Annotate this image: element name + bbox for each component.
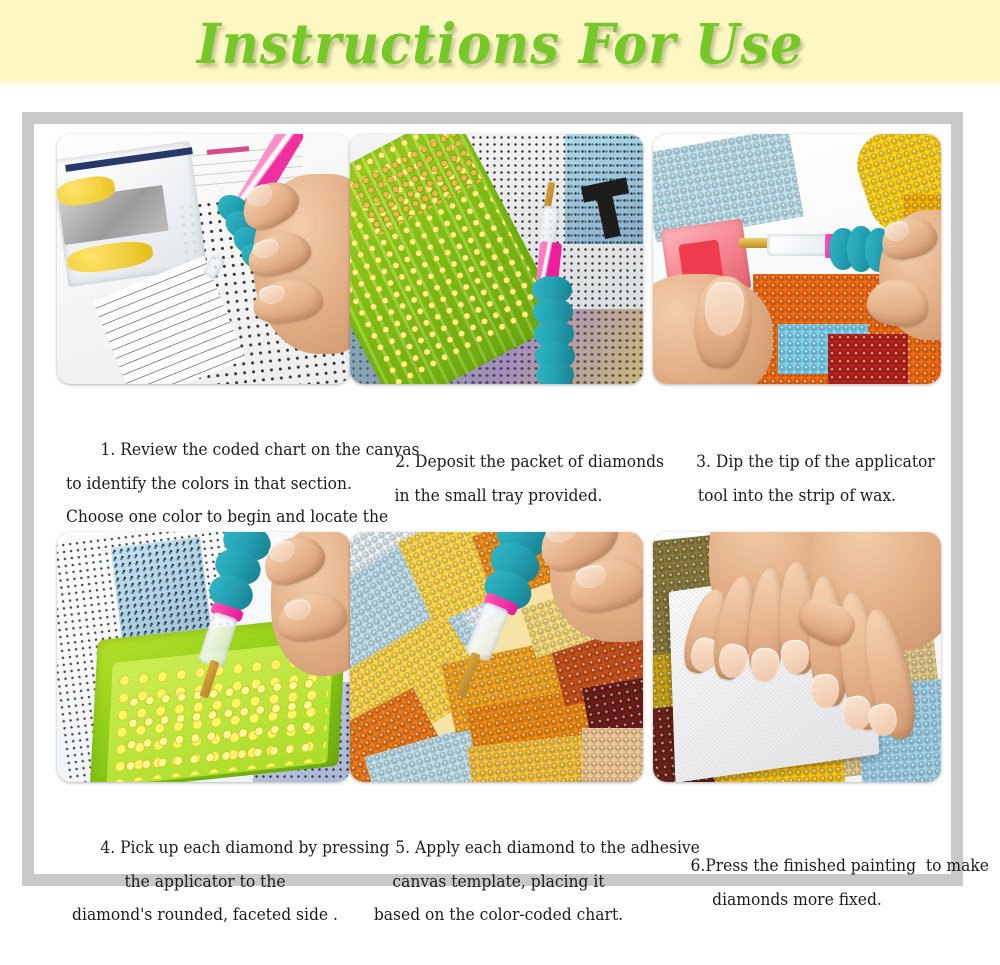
- step-4-photo-pick-up-diamond: [57, 532, 350, 782]
- page-title: Instructions For Use: [197, 16, 804, 71]
- instructions-frame: 1. Review the coded chart on the canvas …: [22, 112, 963, 886]
- step-3-caption: 3. Dip the tip of the applicator tool in…: [662, 412, 933, 545]
- steps-grid: 1. Review the coded chart on the canvas …: [57, 134, 929, 874]
- step-4-caption: 4. Pick up each diamond by pressing the …: [66, 798, 344, 965]
- step-2-caption-line-2: in the small tray provided.: [395, 486, 603, 505]
- step-2-caption-line-1: 2. Deposit the packet of diamonds: [395, 452, 664, 471]
- step-2-photo-deposit-diamonds-tray: [350, 134, 643, 384]
- step-6-caption: 6.Press the finished painting to make di…: [656, 816, 938, 949]
- step-1-caption-line-3: Choose one color to begin and locate the: [66, 507, 388, 526]
- step-6-caption-line-1: 6.Press the finished painting to make: [691, 856, 989, 875]
- step-2: 2. Deposit the packet of diamonds in the…: [350, 134, 653, 532]
- step-1-photo-review-coded-chart: [57, 134, 350, 384]
- step-3-caption-line-2: tool into the strip of wax.: [698, 486, 896, 505]
- step-5-caption-line-2: canvas template, placing it: [392, 872, 604, 891]
- step-3: 3. Dip the tip of the applicator tool in…: [653, 134, 929, 532]
- step-5-caption: 5. Apply each diamond to the adhesive ca…: [361, 798, 636, 965]
- step-5: 5. Apply each diamond to the adhesive ca…: [350, 532, 653, 874]
- step-1: 1. Review the coded chart on the canvas …: [57, 134, 350, 532]
- step-2-caption: 2. Deposit the packet of diamonds in the…: [361, 412, 636, 545]
- step-6-photo-press-finished-painting: [653, 532, 941, 782]
- frame-inner: 1. Review the coded chart on the canvas …: [34, 124, 951, 874]
- step-4-caption-line-2: the applicator to the: [124, 872, 285, 891]
- step-6: 6.Press the finished painting to make di…: [653, 532, 929, 874]
- step-5-photo-apply-diamond-to-canvas: [350, 532, 643, 782]
- step-3-caption-line-1: 3. Dip the tip of the applicator: [696, 452, 935, 471]
- step-6-caption-line-2: diamonds more fixed.: [712, 890, 882, 909]
- step-4-caption-line-1: 4. Pick up each diamond by pressing: [100, 838, 389, 857]
- title-band: Instructions For Use: [0, 0, 1000, 88]
- step-1-caption-line-2: to identify the colors in that section.: [66, 474, 352, 493]
- step-4: 4. Pick up each diamond by pressing the …: [57, 532, 350, 874]
- step-3-photo-dip-tip-in-wax: [653, 134, 941, 384]
